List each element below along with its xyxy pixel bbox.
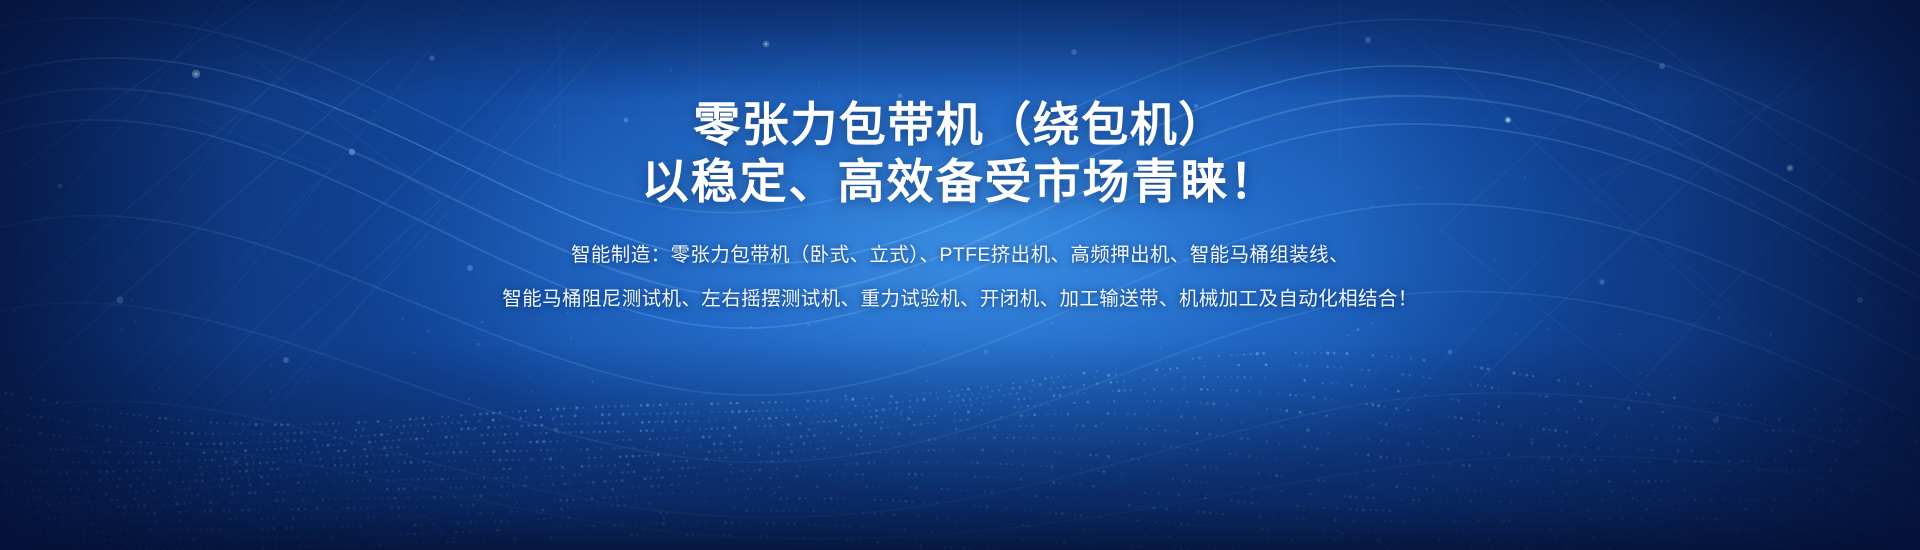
headline-line-1: 零张力包带机（绕包机） (693, 96, 1227, 153)
subtitle-line-1: 智能制造：零张力包带机（卧式、立式）、PTFE挤出机、高频押出机、智能马桶组装线… (571, 242, 1349, 269)
banner-content: 零张力包带机（绕包机） 以稳定、高效备受市场青睐！ 智能制造：零张力包带机（卧式… (0, 0, 1920, 550)
subtitle-line-2: 智能马桶阻尼测试机、左右摇摆测试机、重力试验机、开闭机、加工输送带、机械加工及自… (502, 286, 1417, 313)
hero-banner: 零张力包带机（绕包机） 以稳定、高效备受市场青睐！ 智能制造：零张力包带机（卧式… (0, 0, 1920, 550)
headline-line-2: 以稳定、高效备受市场青睐！ (642, 153, 1279, 210)
